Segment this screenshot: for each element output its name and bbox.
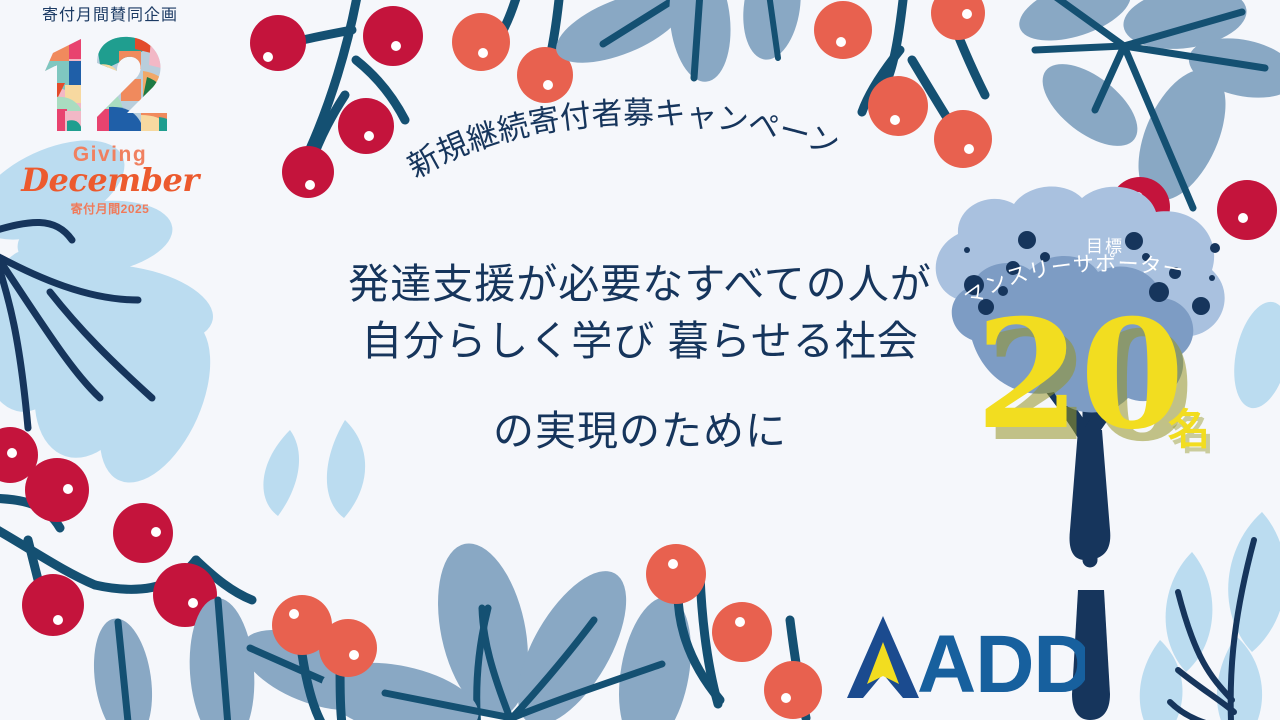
campaign-ribbon-label: 新規継続寄付者募キャンペーン — [402, 96, 844, 185]
numeral-one — [35, 31, 95, 136]
headline: 発達支援が必要なすべての人が 自分らしく学び 暮らせる社会 の実現のために — [300, 256, 980, 460]
goal-badge: 目標 マンスリーサポーター 20 名 — [930, 200, 1280, 520]
adds-chevron-icon — [847, 616, 919, 698]
svg-text:新規継続寄付者募キャンペーン: 新規継続寄付者募キャンペーン — [402, 96, 844, 185]
goal-unit: 名 — [1168, 396, 1210, 457]
headline-line-2: 自分らしく学び 暮らせる社会 — [361, 318, 919, 364]
headline-line-1: 発達支援が必要なすべての人が — [348, 261, 932, 307]
supporter-program-label: 寄付月間賛同企画 — [10, 6, 210, 25]
adds-logo: ADDS — [845, 612, 1085, 704]
twelve-mosaic-numeral — [35, 31, 185, 136]
december-word: December — [10, 164, 210, 198]
adds-wordmark: ADDS — [917, 619, 1085, 704]
numeral-two — [90, 31, 180, 136]
campaign-ribbon-text: 新規継続寄付者募キャンペーン — [400, 96, 870, 196]
campaign-poster: 寄付月間賛同企画 — [0, 0, 1280, 720]
giving-december-logo: 寄付月間賛同企画 — [10, 6, 210, 217]
headline-line-3: の実現のために — [300, 403, 980, 460]
donation-month-year: 寄付月間2025 — [10, 200, 210, 217]
